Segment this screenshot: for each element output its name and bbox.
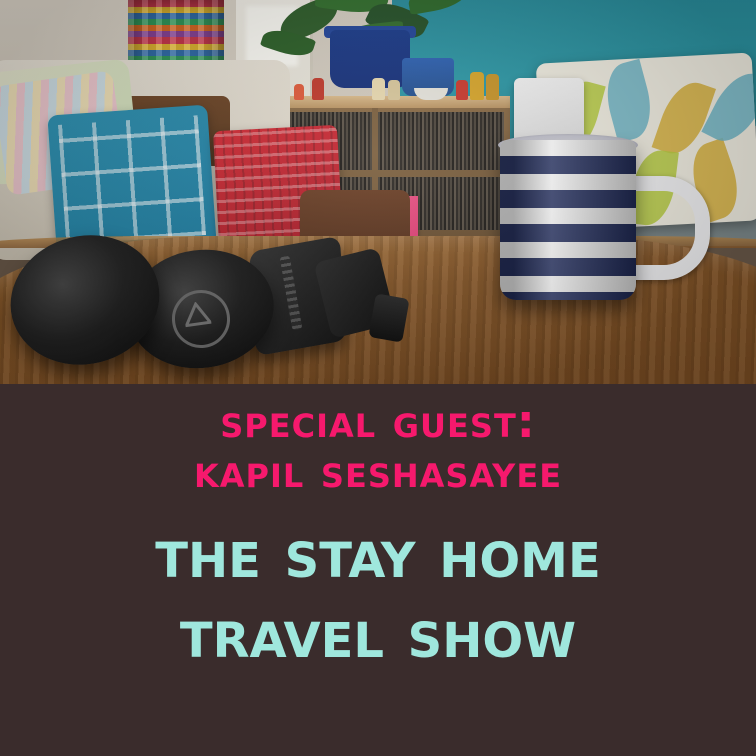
blue-plant-pot — [330, 30, 410, 88]
podcast-episode-poster: Special Guest: Kapil Seshasayee The Stay… — [0, 0, 756, 756]
room-photo — [0, 0, 756, 384]
headphone-logo-icon — [182, 300, 211, 327]
trinket-red2 — [294, 84, 304, 100]
show-title-line-1: The Stay Home — [155, 521, 600, 589]
trinket-doll1 — [372, 78, 385, 100]
trinket-red3 — [456, 80, 468, 100]
special-guest-label: Special Guest: — [220, 398, 536, 446]
trinket-doll2 — [388, 80, 400, 100]
trinket-red — [312, 78, 324, 100]
title-panel: Special Guest: Kapil Seshasayee The Stay… — [0, 384, 756, 756]
striped-mug — [500, 140, 636, 300]
trinket-gold2 — [486, 74, 499, 100]
trinket-gold1 — [470, 72, 484, 100]
guest-name: Kapil Seshasayee — [194, 448, 562, 496]
blue-check-cushion — [47, 105, 216, 256]
show-title-line-2: Travel Show — [180, 601, 576, 669]
